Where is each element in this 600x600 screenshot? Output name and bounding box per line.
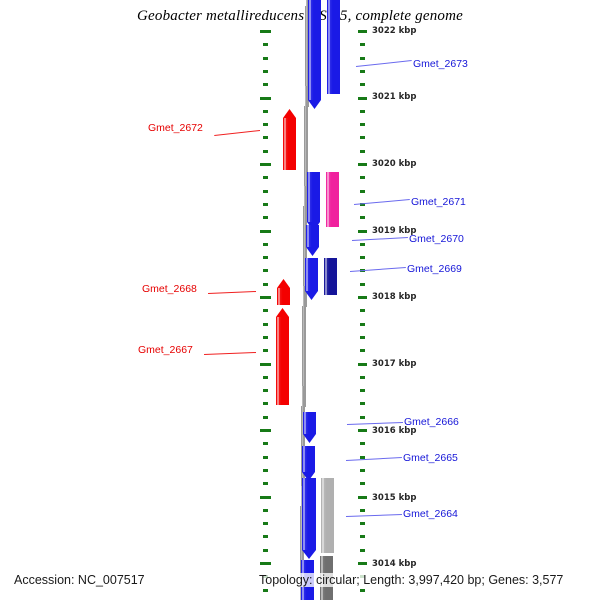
ruler-label: 3015 kbp xyxy=(372,493,416,503)
page-title: Geobacter metallireducens GS-15, complet… xyxy=(0,8,600,25)
gene-arrowhead xyxy=(276,308,289,317)
ruler-tick-minor xyxy=(263,190,268,193)
gene-label-leader-line xyxy=(346,457,402,461)
ruler-tick-minor xyxy=(360,482,365,485)
ruler-label: 3014 kbp xyxy=(372,559,416,569)
gene-glyph[interactable] xyxy=(327,0,340,94)
ruler-tick-minor xyxy=(263,43,268,46)
gene-arrowhead xyxy=(302,550,316,559)
gene-name-label[interactable]: Gmet_2664 xyxy=(403,508,458,520)
ruler-tick-major xyxy=(260,363,271,366)
ruler-tick-minor xyxy=(360,110,365,113)
ruler-tick-major xyxy=(358,562,367,565)
gene-highlight xyxy=(303,478,305,550)
gene-label-leader-line xyxy=(347,422,403,425)
ruler-tick-major xyxy=(260,163,271,166)
gene-highlight xyxy=(327,172,329,227)
ruler-tick-minor xyxy=(263,203,268,206)
gene-highlight xyxy=(306,258,308,291)
ruler-tick-minor xyxy=(360,43,365,46)
ruler-tick-minor xyxy=(263,416,268,419)
gene-label-leader-line xyxy=(350,267,406,272)
genome-map-viewport: Geobacter metallireducens GS-15, complet… xyxy=(0,0,600,600)
ruler-tick-major xyxy=(358,97,367,100)
ruler-tick-minor xyxy=(263,376,268,379)
ruler-tick-minor xyxy=(263,243,268,246)
ruler-tick-minor xyxy=(360,469,365,472)
ruler-tick-minor xyxy=(263,509,268,512)
gene-name-label[interactable]: Gmet_2669 xyxy=(407,263,462,275)
ruler-tick-minor xyxy=(263,70,268,73)
ruler-tick-minor xyxy=(360,216,365,219)
gene-glyph[interactable] xyxy=(326,172,339,227)
ruler-tick-minor xyxy=(263,336,268,339)
gene-highlight xyxy=(304,412,306,434)
ruler-tick-minor xyxy=(263,522,268,525)
gene-highlight xyxy=(325,258,327,295)
ruler-tick-minor xyxy=(360,336,365,339)
ruler-tick-minor xyxy=(360,389,365,392)
ruler-tick-minor xyxy=(263,469,268,472)
gene-highlight xyxy=(284,118,286,170)
gene-label-leader-line xyxy=(208,291,256,294)
ruler-tick-minor xyxy=(360,509,365,512)
gene-glyph[interactable] xyxy=(302,446,315,472)
gene-glyph[interactable] xyxy=(283,118,296,170)
gene-name-label[interactable]: Gmet_2665 xyxy=(403,452,458,464)
ruler-tick-minor xyxy=(263,216,268,219)
gene-glyph[interactable] xyxy=(302,478,316,550)
ruler-tick-minor xyxy=(360,376,365,379)
genome-summary-text: Topology: circular; Length: 3,997,420 bp… xyxy=(258,573,564,587)
ruler-tick-minor xyxy=(263,389,268,392)
ruler-tick-minor xyxy=(263,549,268,552)
ruler-label: 3021 kbp xyxy=(372,92,416,102)
gene-glyph[interactable] xyxy=(305,258,318,291)
gene-highlight xyxy=(303,446,305,472)
ruler-label: 3022 kbp xyxy=(372,26,416,36)
ruler-tick-minor xyxy=(263,150,268,153)
gene-glyph[interactable] xyxy=(307,172,320,222)
gene-name-label[interactable]: Gmet_2667 xyxy=(138,344,193,356)
ruler-tick-minor xyxy=(360,150,365,153)
ruler-tick-minor xyxy=(360,283,365,286)
ruler-tick-major xyxy=(260,429,271,432)
ruler-tick-minor xyxy=(360,522,365,525)
ruler-tick-minor xyxy=(263,83,268,86)
gene-name-label[interactable]: Gmet_2668 xyxy=(142,283,197,295)
gene-arrowhead xyxy=(308,100,321,109)
ruler-tick-major xyxy=(358,496,367,499)
ruler-tick-major xyxy=(358,163,367,166)
ruler-tick-minor xyxy=(360,136,365,139)
ruler-tick-minor xyxy=(263,349,268,352)
ruler-tick-minor xyxy=(360,190,365,193)
gene-label-leader-line xyxy=(346,514,402,517)
ruler-tick-minor xyxy=(360,349,365,352)
ruler-tick-minor xyxy=(360,176,365,179)
gene-name-label[interactable]: Gmet_2666 xyxy=(404,416,459,428)
ruler-tick-minor xyxy=(360,243,365,246)
ruler-tick-major xyxy=(260,562,271,565)
gene-glyph[interactable] xyxy=(308,0,321,100)
ruler-tick-minor xyxy=(263,589,268,592)
ruler-tick-minor xyxy=(360,535,365,538)
ruler-label: 3017 kbp xyxy=(372,359,416,369)
ruler-tick-minor xyxy=(263,456,268,459)
ruler-tick-minor xyxy=(360,70,365,73)
ruler-label: 3020 kbp xyxy=(372,159,416,169)
gene-arrowhead xyxy=(306,247,319,256)
ruler-tick-minor xyxy=(263,283,268,286)
gene-highlight xyxy=(307,225,309,247)
ruler-tick-minor xyxy=(263,323,268,326)
gene-highlight xyxy=(277,317,279,405)
ruler-tick-minor xyxy=(263,269,268,272)
ruler-tick-minor xyxy=(360,442,365,445)
gene-glyph[interactable] xyxy=(306,225,319,247)
gene-arrowhead xyxy=(283,109,296,118)
ruler-tick-minor xyxy=(263,136,268,139)
ruler-tick-minor xyxy=(263,535,268,538)
ruler-tick-minor xyxy=(263,402,268,405)
ruler-tick-minor xyxy=(360,57,365,60)
ruler-tick-minor xyxy=(263,110,268,113)
gene-glyph[interactable] xyxy=(303,412,316,434)
ruler-tick-minor xyxy=(263,256,268,259)
ruler-tick-minor xyxy=(360,323,365,326)
ruler-label: 3018 kbp xyxy=(372,292,416,302)
ruler-tick-major xyxy=(358,296,367,299)
gene-glyph[interactable] xyxy=(277,288,290,305)
gene-glyph[interactable] xyxy=(276,317,289,405)
ruler-tick-minor xyxy=(263,123,268,126)
gene-name-label[interactable]: Gmet_2670 xyxy=(409,233,464,245)
gene-arrowhead xyxy=(305,291,318,300)
gene-label-leader-line xyxy=(356,60,412,67)
ruler-tick-minor xyxy=(263,176,268,179)
ruler-tick-major xyxy=(358,429,367,432)
ruler-tick-minor xyxy=(360,256,365,259)
gene-highlight xyxy=(309,0,311,100)
ruler-tick-major xyxy=(358,30,367,33)
gene-highlight xyxy=(308,172,310,222)
ruler-tick-major xyxy=(260,30,271,33)
accession-text: Accession: NC_007517 xyxy=(14,573,145,587)
gene-name-label[interactable]: Gmet_2673 xyxy=(413,58,468,70)
ruler-tick-major xyxy=(260,97,271,100)
ruler-tick-minor xyxy=(263,309,268,312)
ruler-tick-minor xyxy=(360,402,365,405)
gene-name-label[interactable]: Gmet_2672 xyxy=(148,122,203,134)
ruler-tick-major xyxy=(260,230,271,233)
gene-glyph[interactable] xyxy=(321,478,334,553)
ruler-tick-major xyxy=(358,230,367,233)
gene-highlight xyxy=(322,478,324,553)
ruler-tick-major xyxy=(260,496,271,499)
gene-highlight xyxy=(328,0,330,94)
ruler-tick-minor xyxy=(360,416,365,419)
ruler-tick-minor xyxy=(360,589,365,592)
ruler-tick-minor xyxy=(360,309,365,312)
gene-glyph[interactable] xyxy=(324,258,337,295)
ruler-tick-major xyxy=(260,296,271,299)
ruler-tick-minor xyxy=(360,83,365,86)
gene-highlight xyxy=(278,288,280,305)
gene-label-leader-line xyxy=(352,237,408,241)
gene-arrowhead xyxy=(277,279,290,288)
gene-label-leader-line xyxy=(204,352,256,355)
ruler-tick-minor xyxy=(263,442,268,445)
gene-label-leader-line xyxy=(214,130,260,136)
ruler-tick-minor xyxy=(263,57,268,60)
ruler-tick-major xyxy=(358,363,367,366)
ruler-tick-minor xyxy=(263,482,268,485)
ruler-tick-minor xyxy=(360,123,365,126)
ruler-tick-minor xyxy=(360,549,365,552)
gene-name-label[interactable]: Gmet_2671 xyxy=(411,196,466,208)
